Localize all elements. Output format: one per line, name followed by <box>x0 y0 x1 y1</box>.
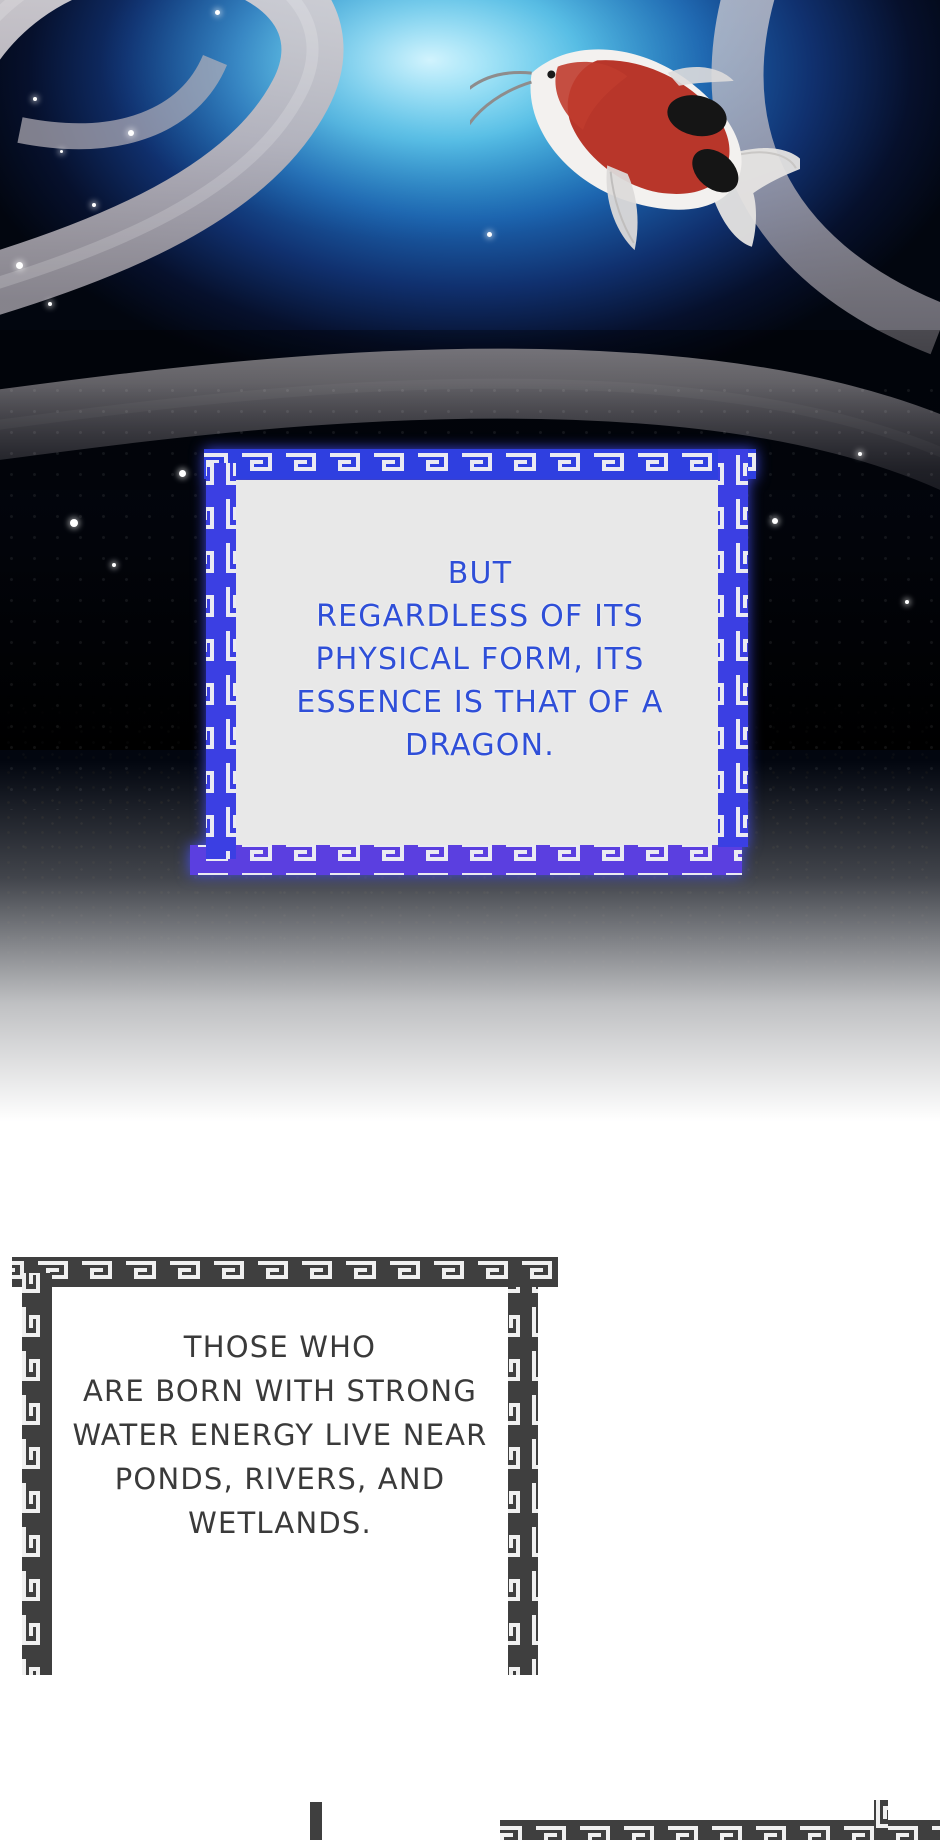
art-panel-koi-scene: BUT REGARDLESS OF ITS PHYSICAL FORM, ITS… <box>0 0 940 1180</box>
dialogue-box-grey: THOSE WHO ARE BORN WITH STRONG WATER ENE… <box>0 1255 586 1675</box>
dialogue-text-blue: BUT REGARDLESS OF ITS PHYSICAL FORM, ITS… <box>226 552 734 767</box>
comic-page: BUT REGARDLESS OF ITS PHYSICAL FORM, ITS… <box>0 0 940 1840</box>
dialogue-box-blue: BUT REGARDLESS OF ITS PHYSICAL FORM, ITS… <box>190 447 770 879</box>
next-frame-stub <box>0 1790 940 1840</box>
dialogue-text-grey: THOSE WHO ARE BORN WITH STRONG WATER ENE… <box>20 1325 540 1545</box>
